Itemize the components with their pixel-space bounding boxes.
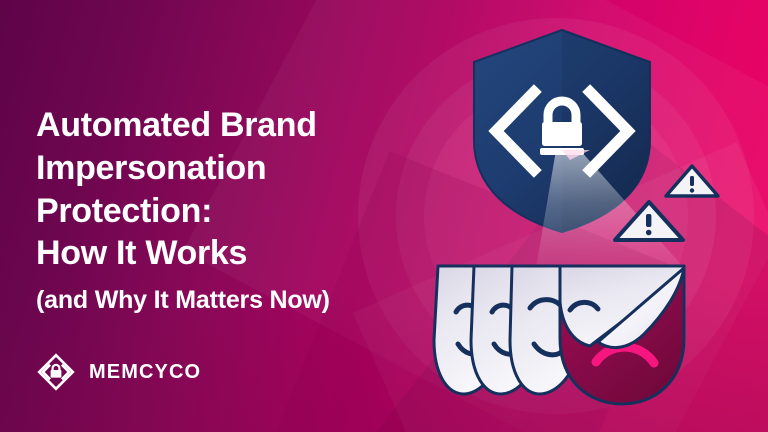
- hero-copy: Automated Brand Impersonation Protection…: [36, 104, 416, 315]
- page-title: Automated Brand Impersonation Protection…: [36, 104, 416, 275]
- shield-brackets-padlock-icon: [36, 352, 76, 392]
- headline-line-3: Protection:: [36, 190, 416, 233]
- blog-hero-banner: Automated Brand Impersonation Protection…: [0, 0, 768, 432]
- headline-line-2: Impersonation: [36, 147, 416, 190]
- headline-line-1: Automated Brand: [36, 104, 416, 147]
- theater-mask-icon: [560, 266, 684, 404]
- hero-illustration: [384, 0, 768, 432]
- warning-triangle-icon: [666, 166, 718, 196]
- brand-logo[interactable]: MEMCYCO: [36, 352, 201, 392]
- brand-wordmark: MEMCYCO: [89, 361, 201, 384]
- page-subtitle: (and Why It Matters Now): [36, 285, 416, 315]
- headline-line-4: How It Works: [36, 232, 416, 275]
